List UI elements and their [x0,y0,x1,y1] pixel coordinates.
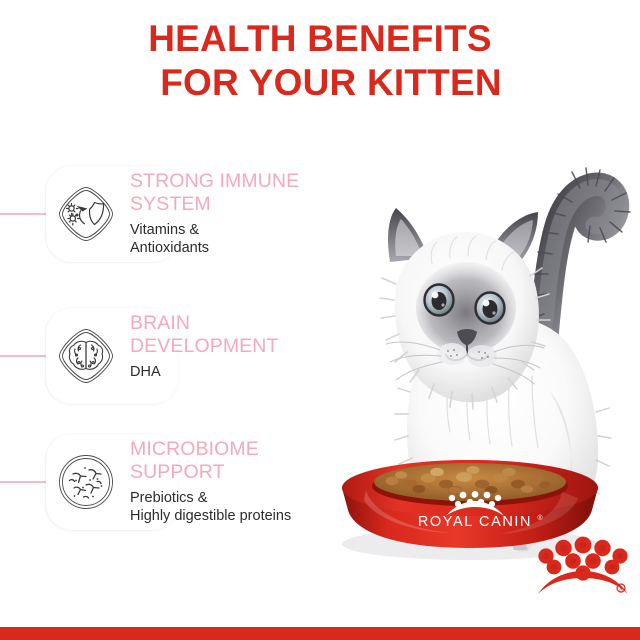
benefit-item-immune: STRONG IMMUNE SYSTEM Vitamins & Antioxid… [0,160,340,280]
page-title-line-1: HEALTH BENEFITS [0,17,640,61]
kitten-tail [532,168,630,342]
bowl-brand-text: ROYAL CANIN [418,514,532,530]
bottom-red-bar [0,627,640,640]
royal-canin-crown-logo: R [536,532,630,598]
connector-line [0,481,50,483]
shield-germ-icon [56,184,116,244]
microbiome-bacteria-icon [56,452,116,512]
benefit-item-microbiome: MICROBIOME SUPPORT Prebiotics & Highly d… [0,428,340,548]
svg-text:R: R [619,587,623,593]
benefit-item-brain: BRAIN DEVELOPMENT DHA [0,302,340,422]
bowl-registered-mark: ® [537,514,543,522]
connector-line [0,355,50,357]
brain-icon [56,326,116,386]
connector-line [0,213,50,215]
kitten-photo: ROYAL CANIN ® [300,92,640,562]
